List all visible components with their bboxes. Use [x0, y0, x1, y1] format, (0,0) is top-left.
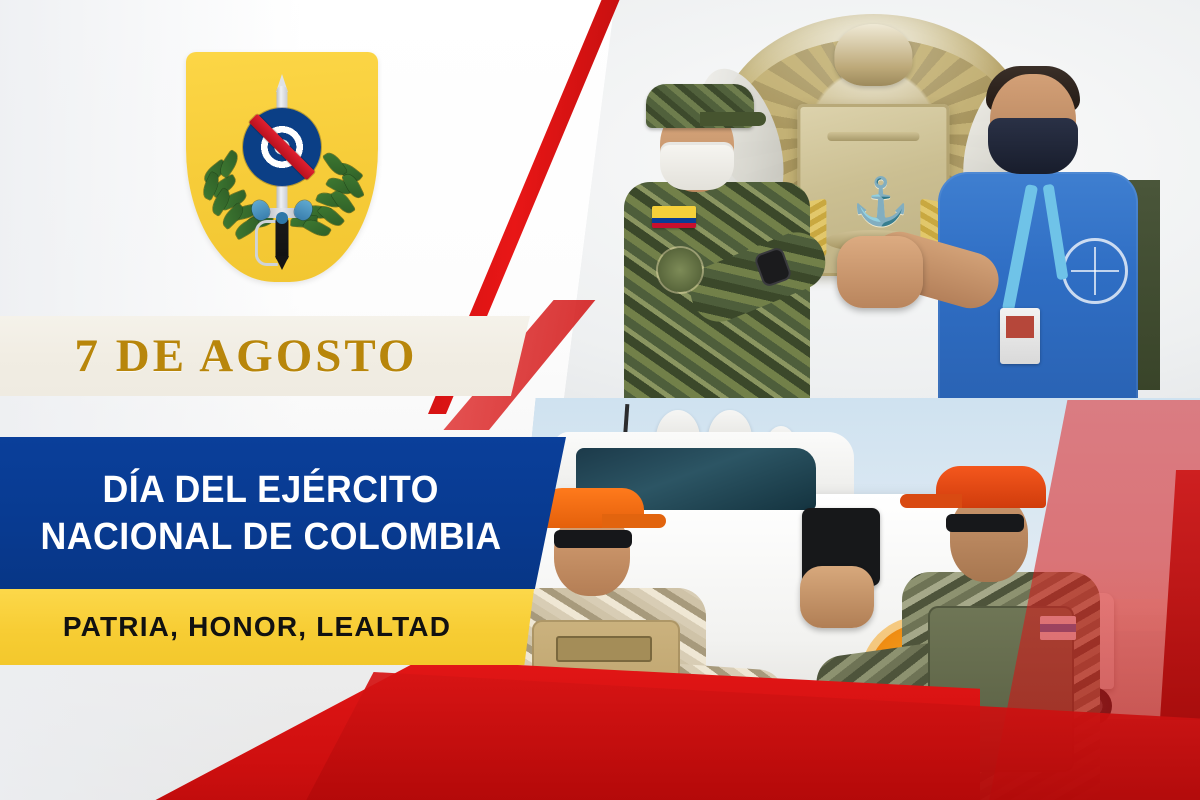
- un-official-figure: [930, 60, 1160, 400]
- date-text: 7 DE AGOSTO: [75, 329, 456, 383]
- army-emblem: [186, 52, 378, 282]
- blue-ribbon-icon: [252, 200, 312, 226]
- poster-canvas: ⚓: [0, 0, 1200, 800]
- army-officer-figure: [624, 70, 820, 400]
- title-line-1: DÍA DEL EJÉRCITO: [103, 471, 464, 509]
- title-band: DÍA DEL EJÉRCITO NACIONAL DE COLOMBIA: [0, 437, 566, 589]
- date-band: 7 DE AGOSTO: [0, 316, 530, 396]
- fist-bump-hands: [837, 236, 923, 308]
- sword-pommel-icon: [275, 256, 289, 270]
- photo-top-officer-greeting: ⚓: [560, 0, 1200, 400]
- title-line-2: NACIONAL DE COLOMBIA: [40, 518, 526, 556]
- fist-bump-hands-bottom: [800, 566, 874, 628]
- motto-band: PATRIA, HONOR, LEALTAD: [0, 589, 534, 665]
- motto-text: PATRIA, HONOR, LEALTAD: [63, 611, 471, 643]
